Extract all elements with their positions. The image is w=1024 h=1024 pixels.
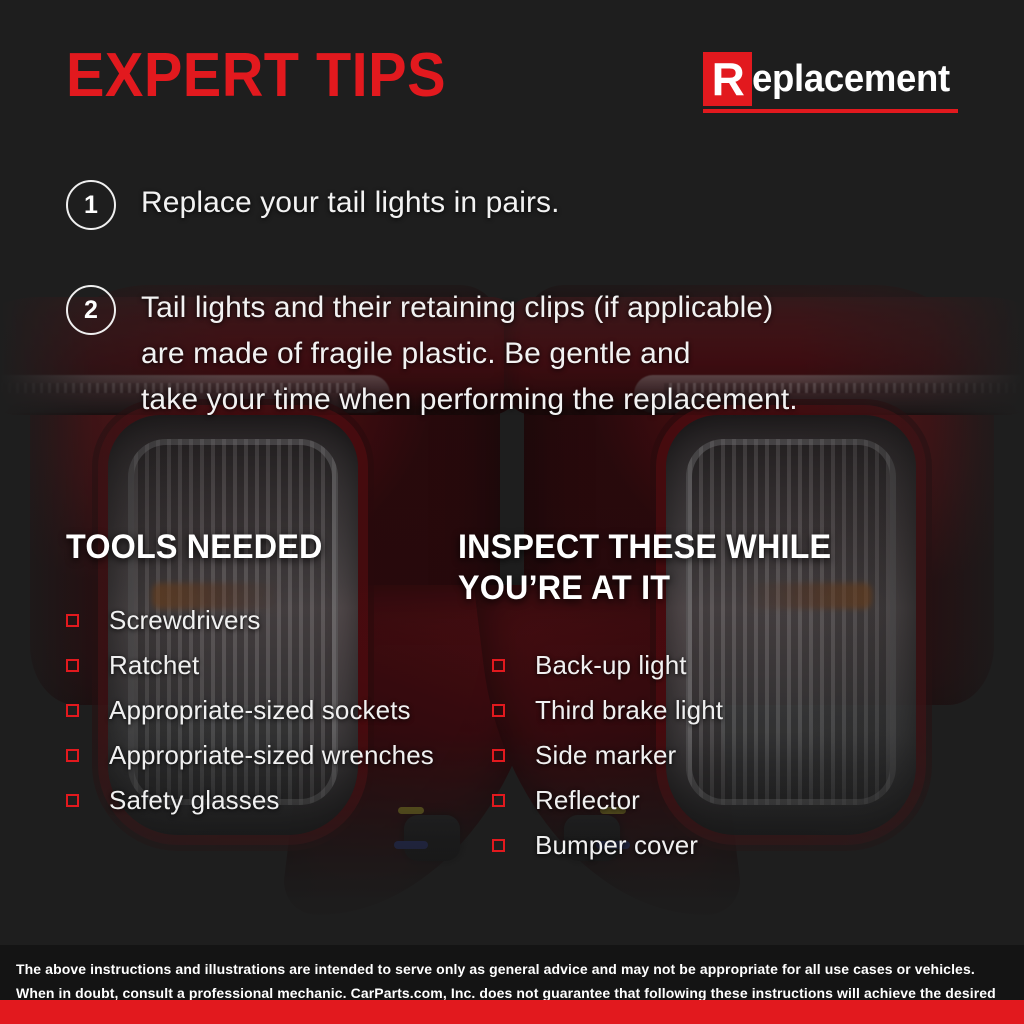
- list-item-label: Side marker: [535, 733, 676, 778]
- checkbox-icon: [492, 839, 505, 852]
- list-item: Third brake light: [492, 688, 723, 733]
- tip-number-badge: 1: [66, 180, 116, 230]
- list-item: Appropriate-sized sockets: [66, 688, 434, 733]
- logo-underline: [703, 109, 958, 113]
- checkbox-icon: [492, 659, 505, 672]
- inspect-these-heading: INSPECT THESE WHILE YOU’RE AT IT: [458, 527, 831, 609]
- list-item-label: Bumper cover: [535, 823, 698, 868]
- tools-needed-list: Screwdrivers Ratchet Appropriate-sized s…: [66, 598, 434, 823]
- checkbox-icon: [66, 794, 79, 807]
- checkbox-icon: [66, 704, 79, 717]
- list-item-label: Appropriate-sized wrenches: [109, 733, 434, 778]
- checkbox-icon: [492, 749, 505, 762]
- list-item-label: Safety glasses: [109, 778, 280, 823]
- page-title: EXPERT TIPS: [66, 45, 446, 107]
- list-item-label: Reflector: [535, 778, 640, 823]
- tip-number-badge: 2: [66, 285, 116, 335]
- list-item-label: Back-up light: [535, 643, 687, 688]
- checkbox-icon: [66, 749, 79, 762]
- bottom-accent-bar: [0, 1000, 1024, 1024]
- list-item-label: Third brake light: [535, 688, 723, 733]
- expert-tips-infographic: EXPERT TIPS R eplacement 1 Replace your …: [0, 0, 1024, 1024]
- tools-needed-heading: TOOLS NEEDED: [66, 527, 323, 568]
- list-item-label: Ratchet: [109, 643, 199, 688]
- checkbox-icon: [66, 614, 79, 627]
- inspect-these-list: Back-up light Third brake light Side mar…: [492, 643, 723, 868]
- checkbox-icon: [66, 659, 79, 672]
- list-item: Bumper cover: [492, 823, 723, 868]
- checkbox-icon: [492, 704, 505, 717]
- checkbox-icon: [492, 794, 505, 807]
- list-item: Reflector: [492, 778, 723, 823]
- list-item: Back-up light: [492, 643, 723, 688]
- list-item: Ratchet: [66, 643, 434, 688]
- tip-text: Tail lights and their retaining clips (i…: [141, 285, 798, 423]
- logo-wordmark: eplacement: [752, 52, 950, 106]
- list-item: Screwdrivers: [66, 598, 434, 643]
- tip-item-1: 1 Replace your tail lights in pairs.: [66, 180, 560, 230]
- logo-r-badge: R: [703, 52, 752, 106]
- tip-text: Replace your tail lights in pairs.: [141, 180, 560, 226]
- list-item: Side marker: [492, 733, 723, 778]
- list-item: Safety glasses: [66, 778, 434, 823]
- list-item: Appropriate-sized wrenches: [66, 733, 434, 778]
- footer-disclaimer-bar: The above instructions and illustrations…: [0, 945, 1024, 1000]
- tip-item-2: 2 Tail lights and their retaining clips …: [66, 285, 798, 423]
- list-item-label: Appropriate-sized sockets: [109, 688, 411, 733]
- replacement-logo: R eplacement: [703, 52, 958, 113]
- list-item-label: Screwdrivers: [109, 598, 260, 643]
